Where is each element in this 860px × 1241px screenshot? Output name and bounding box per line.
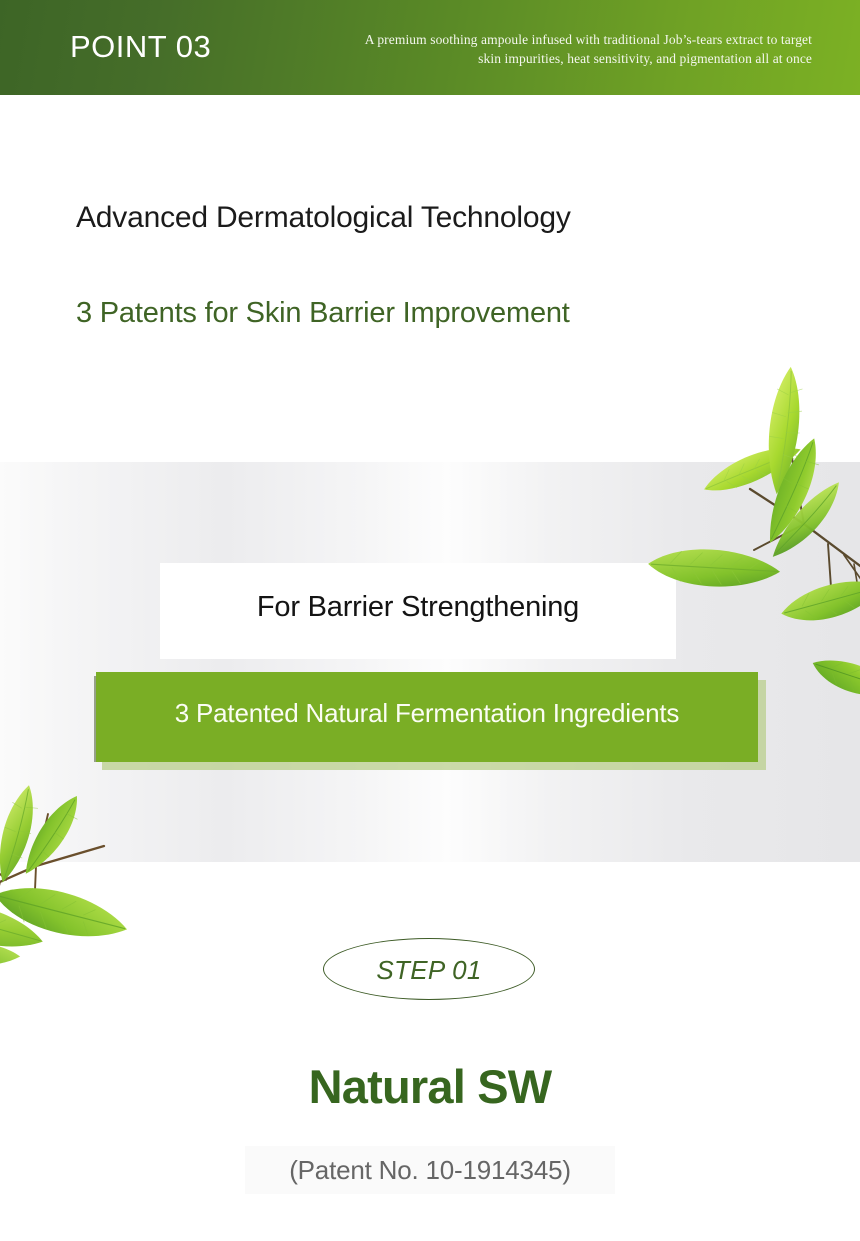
point-label: POINT 03 bbox=[70, 29, 211, 65]
headline-secondary: 3 Patents for Skin Barrier Improvement bbox=[76, 292, 570, 334]
callout-fill: 3 Patented Natural Fermentation Ingredie… bbox=[96, 672, 758, 762]
feature-band bbox=[0, 462, 860, 862]
header-description: A premium soothing ampoule infused with … bbox=[342, 30, 812, 68]
step-badge-label: STEP 01 bbox=[324, 955, 534, 985]
header-description-line-1: A premium soothing ampoule infused with … bbox=[342, 30, 812, 49]
promotional-slide: POINT 03 A premium soothing ampoule infu… bbox=[0, 0, 860, 1241]
patent-number: (Patent No. 10-1914345) bbox=[245, 1153, 615, 1187]
fermentation-ingredients-label: 3 Patented Natural Fermentation Ingredie… bbox=[96, 694, 758, 732]
patent-number-container: (Patent No. 10-1914345) bbox=[245, 1146, 615, 1194]
product-name: Natural SW bbox=[0, 1056, 860, 1118]
barrier-strengthening-label: For Barrier Strengthening bbox=[160, 587, 676, 627]
headline-primary: Advanced Dermatological Technology bbox=[76, 197, 571, 239]
step-badge: STEP 01 bbox=[323, 938, 535, 1000]
barrier-strengthening-callout: For Barrier Strengthening bbox=[160, 563, 676, 659]
header-bar: POINT 03 A premium soothing ampoule infu… bbox=[0, 0, 860, 95]
header-description-line-2: skin impurities, heat sensitivity, and p… bbox=[342, 49, 812, 68]
fermentation-ingredients-callout: 3 Patented Natural Fermentation Ingredie… bbox=[94, 672, 766, 770]
